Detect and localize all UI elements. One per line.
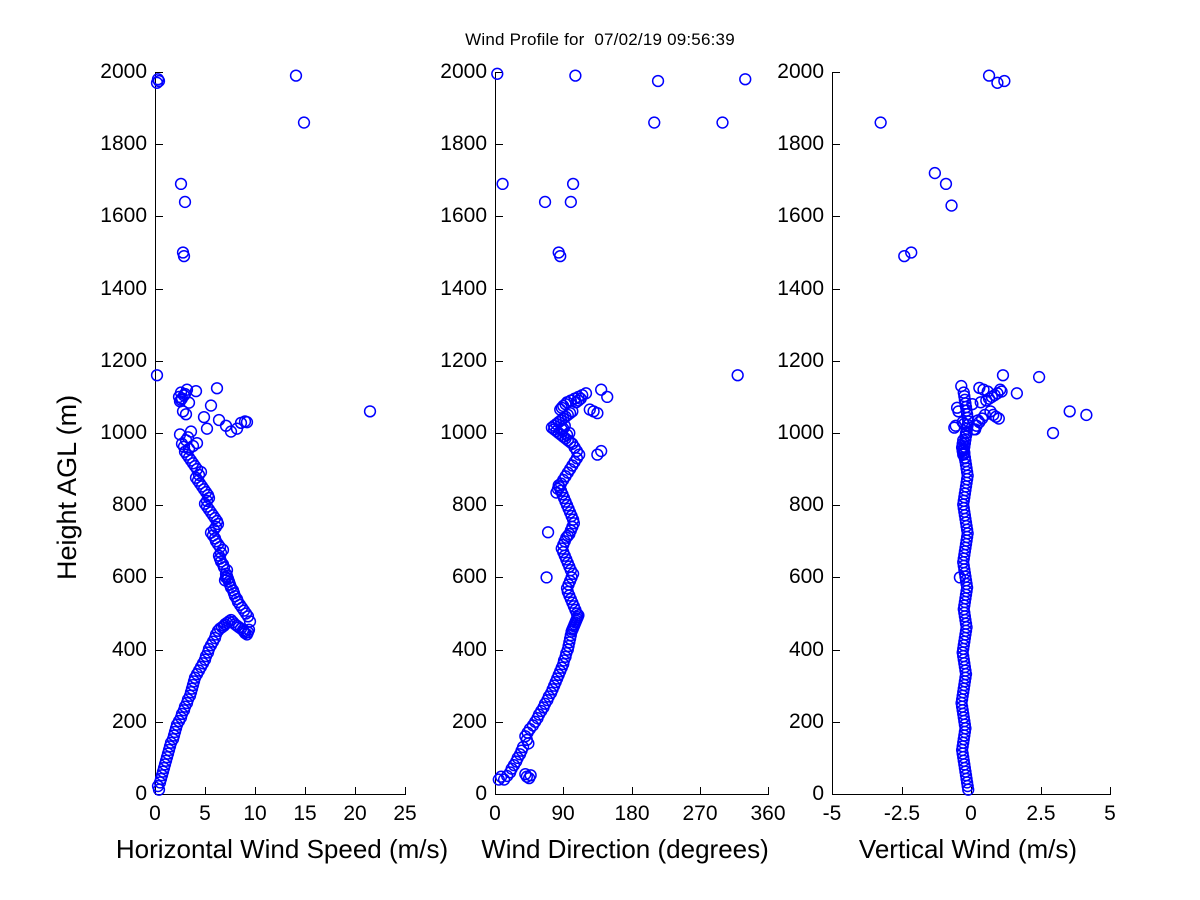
scatter-series-vertical-wind: [0, 0, 1200, 900]
data-point: [1081, 410, 1092, 421]
data-point: [941, 179, 952, 190]
data-point: [999, 76, 1010, 87]
data-point: [875, 117, 886, 128]
data-point: [1011, 388, 1022, 399]
data-point: [1064, 406, 1075, 417]
data-point: [929, 168, 940, 179]
wind-profile-figure: Wind Profile for 07/02/19 09:56:39 Heigh…: [0, 0, 1200, 900]
data-point: [1034, 372, 1045, 383]
data-point: [946, 200, 957, 211]
data-point: [1048, 428, 1059, 439]
data-point: [956, 381, 967, 392]
data-point: [998, 370, 1009, 381]
data-point: [992, 77, 1003, 88]
